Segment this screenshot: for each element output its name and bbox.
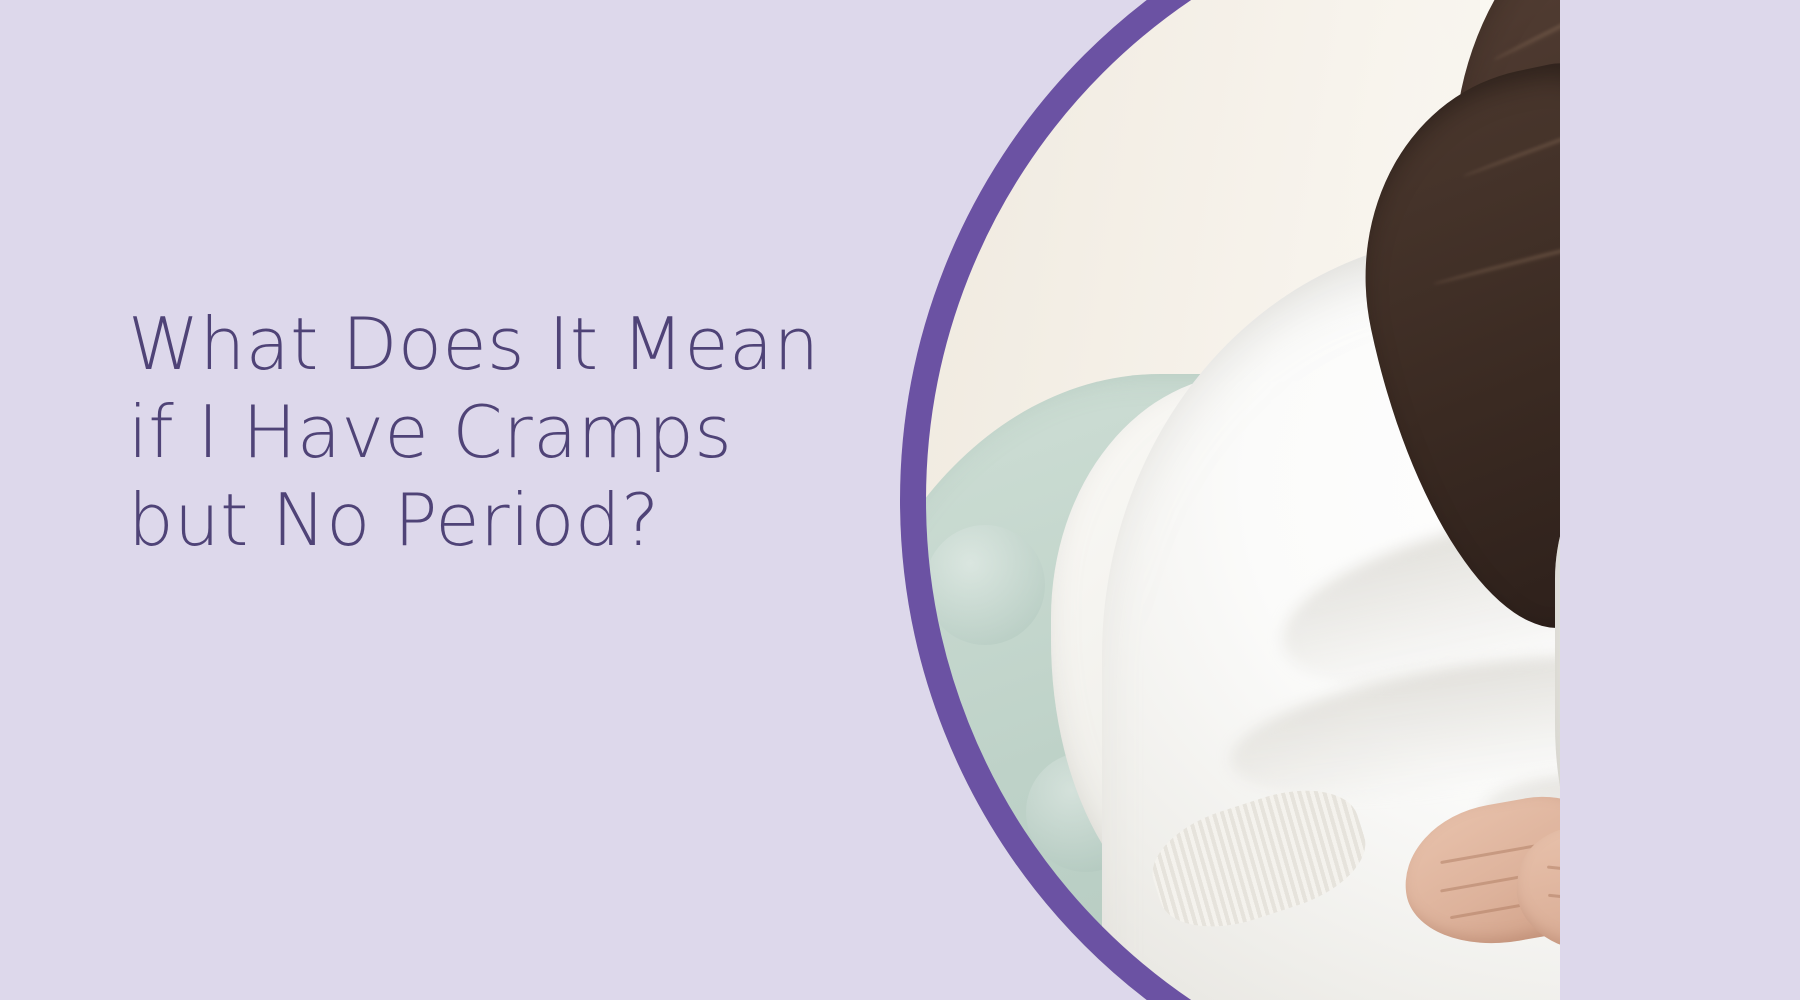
sofa-tuft xyxy=(925,525,1045,645)
headline-line-3: but No Period? xyxy=(128,476,888,564)
hero-photo xyxy=(900,0,1800,1000)
photo-composition xyxy=(900,0,1800,1000)
subject-finger xyxy=(1548,865,1677,881)
subject-finger xyxy=(1549,893,1670,909)
headline-line-2: if I Have Cramps xyxy=(128,388,888,476)
article-header-banner: What Does It Mean if I Have Cramps but N… xyxy=(0,0,1800,1000)
page-title: What Does It Mean if I Have Cramps but N… xyxy=(128,300,888,564)
headline-line-1: What Does It Mean xyxy=(128,300,888,388)
